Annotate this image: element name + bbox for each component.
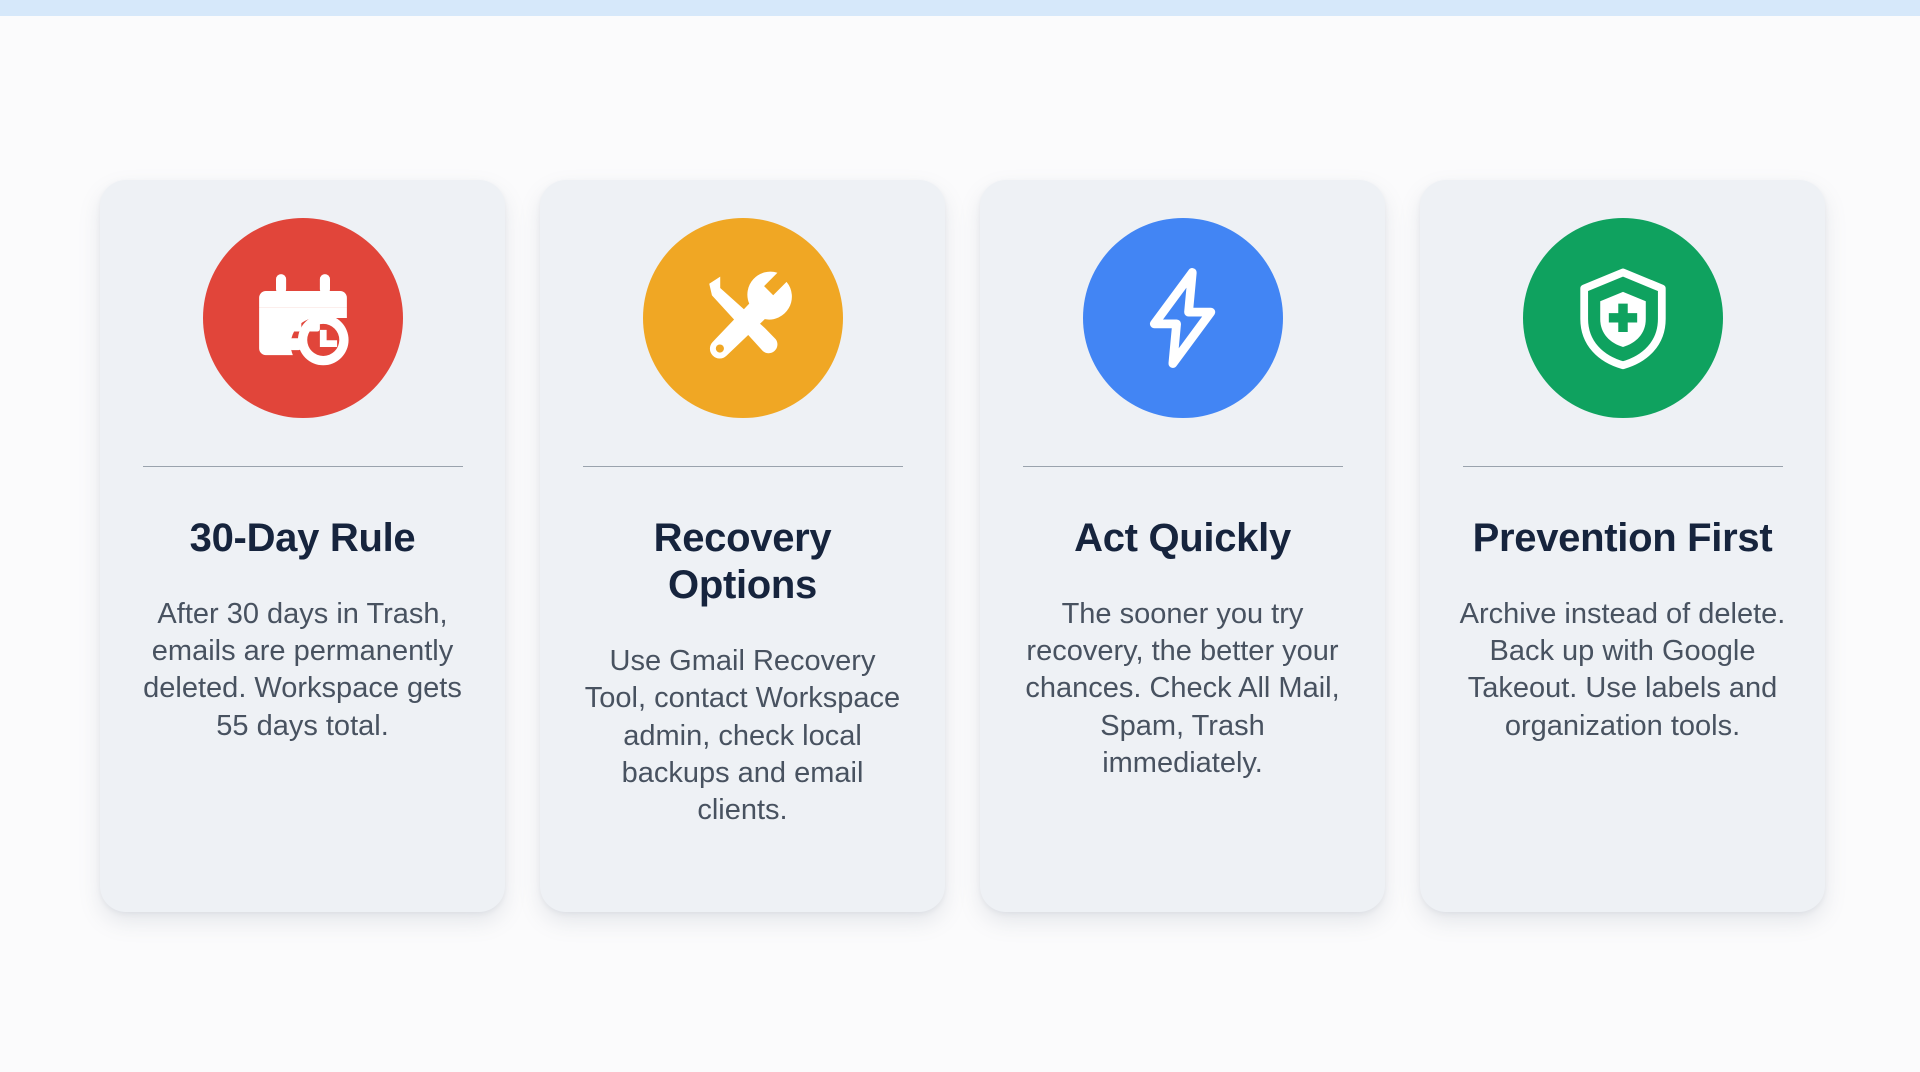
card-title: Prevention First [1458,515,1788,562]
tools-wrench-screwdriver-icon-circle [643,218,843,418]
card-title: 30-Day Rule [138,515,468,562]
card-title: Recovery Options [578,515,908,609]
calendar-clock-icon [249,264,357,372]
top-accent-band [0,0,1920,16]
info-card-act-quickly[interactable]: Act Quickly The sooner you try recovery,… [980,180,1385,912]
card-divider [1463,466,1783,467]
tools-wrench-screwdriver-icon [689,264,797,372]
card-body-text: Archive instead of delete. Back up with … [1458,596,1788,744]
calendar-clock-icon-circle [203,218,403,418]
card-divider [1023,466,1343,467]
card-title: Act Quickly [1018,515,1348,562]
shield-check-icon-circle [1523,218,1723,418]
info-card-prevention-first[interactable]: Prevention First Archive instead of dele… [1420,180,1825,912]
shield-check-icon [1569,264,1677,372]
lightning-bolt-icon-circle [1083,218,1283,418]
info-card-row: 30-Day Rule After 30 days in Trash, emai… [100,180,1825,912]
lightning-bolt-icon [1129,264,1237,372]
card-body-text: Use Gmail Recovery Tool, contact Workspa… [578,643,908,829]
card-body-text: After 30 days in Trash, emails are perma… [138,596,468,744]
info-card-30-day-rule[interactable]: 30-Day Rule After 30 days in Trash, emai… [100,180,505,912]
card-divider [583,466,903,467]
card-body-text: The sooner you try recovery, the better … [1018,596,1348,782]
card-divider [143,466,463,467]
info-card-recovery-options[interactable]: Recovery Options Use Gmail Recovery Tool… [540,180,945,912]
